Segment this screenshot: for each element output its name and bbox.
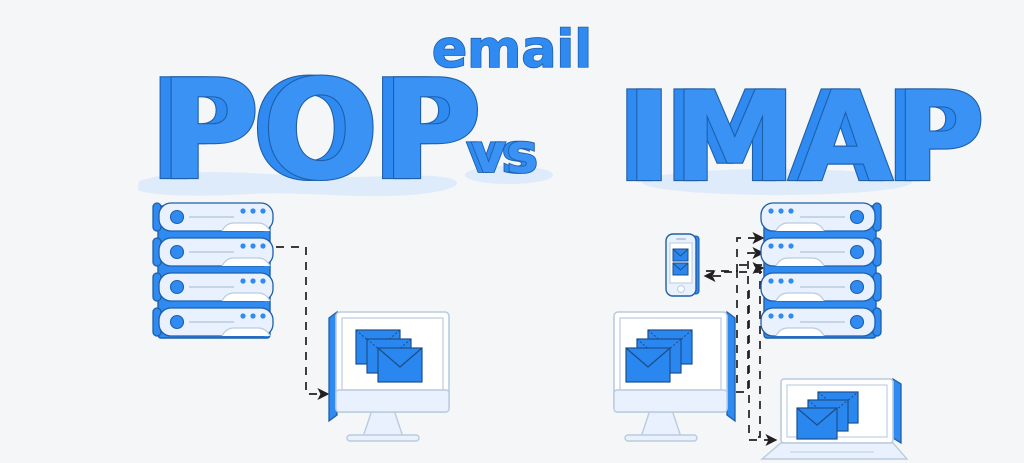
laptop-side	[893, 379, 901, 443]
illustration-canvas: email POP POP vs vs IMAP IMAP	[0, 0, 1024, 463]
laptop[interactable]	[762, 379, 907, 459]
laptop-base	[762, 443, 907, 459]
imap-laptop[interactable]	[0, 0, 1024, 463]
envelope	[797, 408, 837, 439]
